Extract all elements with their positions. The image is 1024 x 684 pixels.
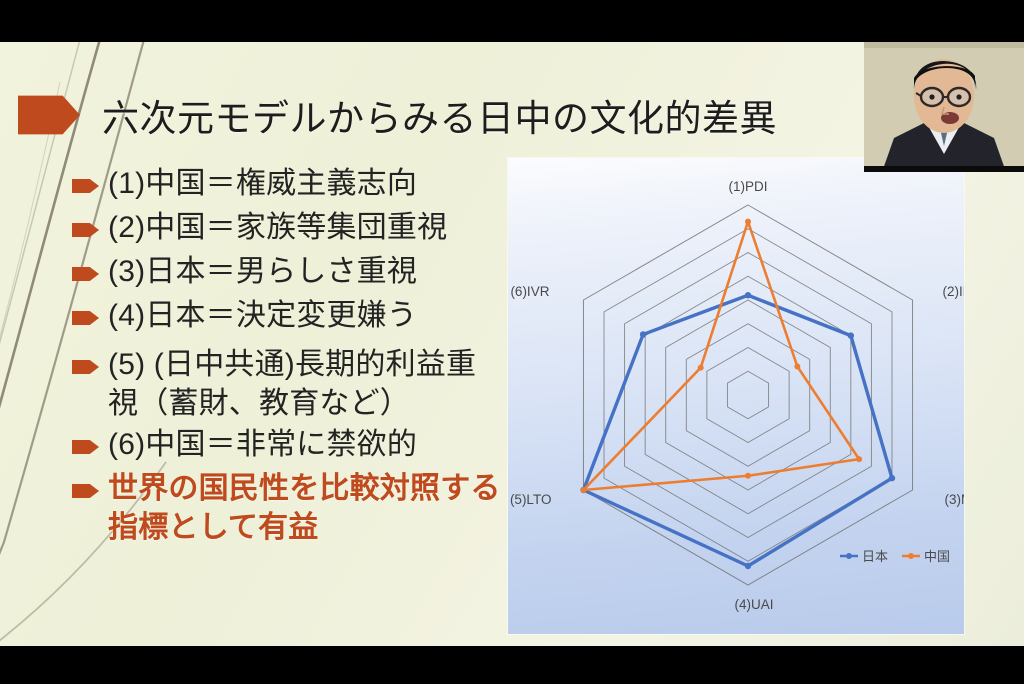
series-marker — [889, 475, 895, 481]
bullet-arrow-icon — [72, 178, 99, 194]
grid-ring — [604, 229, 892, 562]
bullet-text: (2)中国＝家族等集団重視 — [108, 208, 447, 247]
legend-marker — [846, 553, 852, 559]
bullet-arrow-icon — [72, 310, 99, 326]
bullet-arrow-icon — [72, 439, 99, 455]
radar-chart-panel: (1)PDI(2)IDV(3)MAS(4)UAI(5)LTO(6)IVR日本中国 — [508, 158, 964, 634]
bullet-arrow-icon — [72, 483, 99, 499]
bullet-arrow-icon — [72, 359, 99, 375]
list-item-highlight: 世界の国民性を比較対照する指標として有益 — [72, 469, 502, 547]
series-marker — [580, 487, 586, 493]
series-marker — [698, 365, 704, 371]
radar-chart: (1)PDI(2)IDV(3)MAS(4)UAI(5)LTO(6)IVR日本中国 — [508, 158, 964, 634]
page-title: 六次元モデルからみる日中の文化的差異 — [102, 88, 777, 142]
series-marker — [640, 331, 646, 337]
bullet-text: (3)日本＝男らしさ重視 — [108, 252, 417, 291]
list-item: (1)中国＝権威主義志向 — [72, 164, 502, 203]
axis-label-1: (2)IDV — [943, 284, 964, 299]
bullet-arrow-icon — [72, 266, 99, 282]
grid-ring — [583, 205, 912, 585]
bullet-arrow-icon — [72, 222, 99, 238]
screen-capture: 六次元モデルからみる日中の文化的差異 (1)中国＝権威主義志向 (2)中国＝家族… — [0, 0, 1024, 684]
series-line-0 — [583, 295, 892, 566]
speaker-video-overlay[interactable] — [864, 42, 1024, 172]
legend-marker — [908, 553, 914, 559]
series-marker — [745, 563, 751, 569]
letterbox-top — [0, 0, 1024, 42]
series-marker — [745, 219, 751, 225]
bullet-text: (4)日本＝決定変更嫌う — [108, 296, 417, 335]
list-item: (3)日本＝男らしさ重視 — [72, 252, 502, 291]
grid-ring — [727, 371, 768, 419]
grid-ring — [707, 348, 789, 443]
series-marker — [745, 473, 751, 479]
bullet-list: (1)中国＝権威主義志向 (2)中国＝家族等集団重視 (3)日本＝男らしさ重視 … — [72, 164, 502, 552]
axis-label-2: (3)MAS — [945, 492, 964, 507]
axis-label-0: (1)PDI — [728, 179, 767, 194]
series-marker — [848, 332, 854, 338]
grid-ring — [666, 300, 831, 490]
series-marker — [794, 364, 800, 370]
list-item: (4)日本＝決定変更嫌う — [72, 296, 502, 335]
bullet-text: (1)中国＝権威主義志向 — [108, 164, 417, 203]
axis-label-3: (4)UAI — [734, 597, 773, 612]
title-arrow-icon — [18, 92, 80, 138]
series-marker — [745, 292, 751, 298]
legend-label: 日本 — [862, 549, 888, 564]
slide-title-row: 六次元モデルからみる日中の文化的差異 — [18, 87, 777, 143]
axis-label-4: (5)LTO — [510, 492, 552, 507]
list-item: (6)中国＝非常に禁欲的 — [72, 425, 502, 464]
list-item: (5) (日中共通)長期的利益重視（蓄財、教育など） — [72, 345, 502, 423]
bullet-text: (6)中国＝非常に禁欲的 — [108, 425, 417, 464]
list-item: (2)中国＝家族等集団重視 — [72, 208, 502, 247]
axis-label-5: (6)IVR — [510, 284, 549, 299]
bullet-text: 世界の国民性を比較対照する指標として有益 — [108, 469, 502, 547]
letterbox-bottom — [0, 646, 1024, 684]
legend-label: 中国 — [924, 549, 950, 564]
bullet-text: (5) (日中共通)長期的利益重視（蓄財、教育など） — [108, 345, 502, 423]
series-marker — [856, 456, 862, 462]
